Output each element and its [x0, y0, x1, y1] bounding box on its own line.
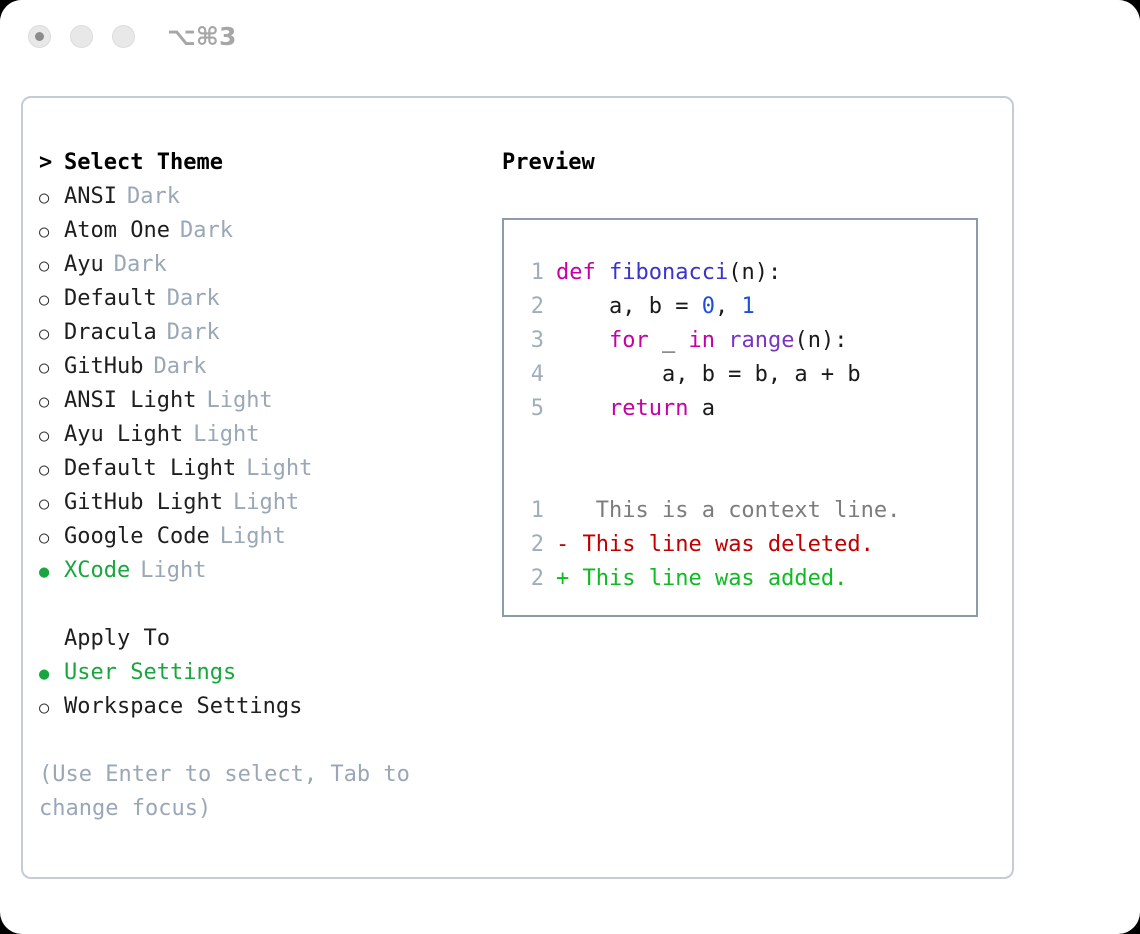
radio-unselected-icon: ○: [39, 521, 64, 555]
active-indicator-dot: [35, 32, 44, 41]
diff-sign: +: [556, 562, 569, 596]
radio-unselected-icon: ○: [39, 249, 64, 283]
theme-name: Ayu Light: [64, 418, 183, 452]
code-line: 4 a, b = b, a + b: [516, 358, 976, 392]
apply-to-item[interactable]: ○ Workspace Settings: [39, 690, 479, 724]
theme-list-item[interactable]: ○ ANSI Light Light: [39, 384, 479, 418]
traffic-light-third-icon[interactable]: [112, 25, 135, 48]
theme-name: Dracula: [64, 316, 157, 350]
apply-to-item-selected[interactable]: ● User Settings: [39, 656, 479, 690]
line-number: 1: [516, 494, 556, 528]
theme-variant-tag: Light: [236, 452, 312, 486]
apply-to-item-label: User Settings: [64, 656, 236, 690]
line-number: 5: [516, 392, 556, 426]
theme-variant-tag: Light: [130, 554, 206, 588]
code-line: 1 def fibonacci(n):: [516, 256, 976, 290]
code-segment: [556, 324, 609, 358]
radio-unselected-icon: ○: [39, 317, 64, 351]
line-number: 4: [516, 358, 556, 392]
code-segment: a: [688, 392, 715, 426]
diff-line-context: 1 This is a context line.: [516, 494, 976, 528]
line-number: 2: [516, 562, 556, 596]
radio-unselected-icon: ○: [39, 351, 64, 385]
theme-name: GitHub: [64, 350, 143, 384]
code-segment: 1: [741, 290, 754, 324]
theme-variant-tag: Light: [223, 486, 299, 520]
code-segment: [715, 324, 728, 358]
code-segment: ,: [715, 290, 742, 324]
line-number: 1: [516, 256, 556, 290]
radio-unselected-icon: ○: [39, 283, 64, 317]
code-line: 3 for _ in range(n):: [516, 324, 976, 358]
section-spacer: [39, 588, 479, 622]
theme-variant-tag: Light: [210, 520, 286, 554]
line-number: 2: [516, 528, 556, 562]
line-number: 3: [516, 324, 556, 358]
radio-unselected-icon: ○: [39, 419, 64, 453]
theme-variant-tag: Dark: [170, 214, 233, 248]
code-line: 5 return a: [516, 392, 976, 426]
preview-panel: 1 def fibonacci(n): 2 a, b = 0, 1 3 for …: [502, 218, 978, 617]
code-segment: _: [649, 324, 689, 358]
code-segment: return: [609, 392, 688, 426]
theme-picker-heading: > Select Theme: [39, 146, 479, 180]
diff-text: This line was added.: [569, 562, 847, 596]
code-segment: a, b = b, a + b: [556, 358, 861, 392]
main-card: > Select Theme ○ ANSI Dark ○ Atom One Da…: [21, 96, 1014, 879]
radio-unselected-icon: ○: [39, 487, 64, 521]
code-segment: in: [688, 324, 715, 358]
theme-name: ANSI Light: [64, 384, 196, 418]
theme-picker-panel: > Select Theme ○ ANSI Dark ○ Atom One Da…: [39, 146, 479, 826]
preview-panel-wrapper: Preview 1 def fibonacci(n): 2 a, b = 0, …: [502, 146, 992, 617]
code-segment: fibonacci: [609, 256, 728, 290]
theme-list-item-selected[interactable]: ● XCode Light: [39, 554, 479, 588]
radio-unselected-icon: ○: [39, 181, 64, 215]
code-segment: 0: [702, 290, 715, 324]
apply-to-item-label: Workspace Settings: [64, 690, 302, 724]
code-segment: def: [556, 256, 609, 290]
line-number: 2: [516, 290, 556, 324]
code-segment: (n):: [794, 324, 847, 358]
theme-name: GitHub Light: [64, 486, 223, 520]
theme-variant-tag: Dark: [157, 316, 220, 350]
traffic-light-second-icon[interactable]: [70, 25, 93, 48]
diff-sign: -: [556, 528, 569, 562]
theme-name: Ayu: [64, 248, 104, 282]
theme-variant-tag: Light: [196, 384, 272, 418]
title-bar: ⌥⌘3: [0, 0, 1140, 78]
theme-picker-heading-label: Select Theme: [64, 146, 223, 180]
theme-variant-tag: Dark: [157, 282, 220, 316]
code-segment: [556, 392, 609, 426]
radio-unselected-icon: ○: [39, 453, 64, 487]
diff-text: This is a context line.: [569, 494, 900, 528]
app-window: ⌥⌘3 > Select Theme ○ ANSI Dark ○ Atom On…: [0, 0, 1140, 934]
theme-name: ANSI: [64, 180, 117, 214]
radio-unselected-icon: ○: [39, 691, 64, 725]
theme-list-item[interactable]: ○ Ayu Light Light: [39, 418, 479, 452]
theme-variant-tag: Dark: [143, 350, 206, 384]
code-segment: range: [728, 324, 794, 358]
radio-selected-icon: ●: [39, 657, 64, 691]
apply-to-heading: Apply To: [39, 622, 479, 656]
theme-name: Google Code: [64, 520, 210, 554]
radio-unselected-icon: ○: [39, 385, 64, 419]
keyboard-hint-text: (Use Enter to select, Tab to change focu…: [39, 758, 459, 826]
theme-list-item[interactable]: ○ GitHub Dark: [39, 350, 479, 384]
code-diff-gap: [516, 426, 976, 460]
theme-list-item[interactable]: ○ GitHub Light Light: [39, 486, 479, 520]
code-segment: (n):: [728, 256, 781, 290]
diff-line-deleted: 2 - This line was deleted.: [516, 528, 976, 562]
window-controls: [28, 25, 135, 48]
theme-name: XCode: [64, 554, 130, 588]
theme-name: Default Light: [64, 452, 236, 486]
theme-list-item[interactable]: ○ Ayu Dark: [39, 248, 479, 282]
hint-spacer: [39, 724, 479, 748]
code-segment: a, b =: [556, 290, 702, 324]
traffic-light-active-icon[interactable]: [28, 25, 51, 48]
theme-variant-tag: Light: [183, 418, 259, 452]
code-line: 2 a, b = 0, 1: [516, 290, 976, 324]
theme-list-item[interactable]: ○ Default Light Light: [39, 452, 479, 486]
apply-to-heading-label: Apply To: [64, 622, 170, 656]
theme-variant-tag: Dark: [117, 180, 180, 214]
diff-line-added: 2 + This line was added.: [516, 562, 976, 596]
diff-text: This line was deleted.: [569, 528, 874, 562]
theme-list-item[interactable]: ○ Dracula Dark: [39, 316, 479, 350]
theme-list-item[interactable]: ○ ANSI Dark: [39, 180, 479, 214]
code-diff-gap: [516, 460, 976, 494]
keyboard-shortcut-label: ⌥⌘3: [167, 22, 236, 51]
preview-title: Preview: [502, 146, 992, 180]
caret-icon: >: [39, 146, 64, 180]
theme-variant-tag: Dark: [104, 248, 167, 282]
diff-sign: [556, 494, 569, 528]
theme-list-item[interactable]: ○ Atom One Dark: [39, 214, 479, 248]
radio-selected-icon: ●: [39, 555, 64, 589]
code-segment: for: [609, 324, 649, 358]
theme-list-item[interactable]: ○ Default Dark: [39, 282, 479, 316]
theme-name: Atom One: [64, 214, 170, 248]
radio-unselected-icon: ○: [39, 215, 64, 249]
theme-list-item[interactable]: ○ Google Code Light: [39, 520, 479, 554]
theme-name: Default: [64, 282, 157, 316]
